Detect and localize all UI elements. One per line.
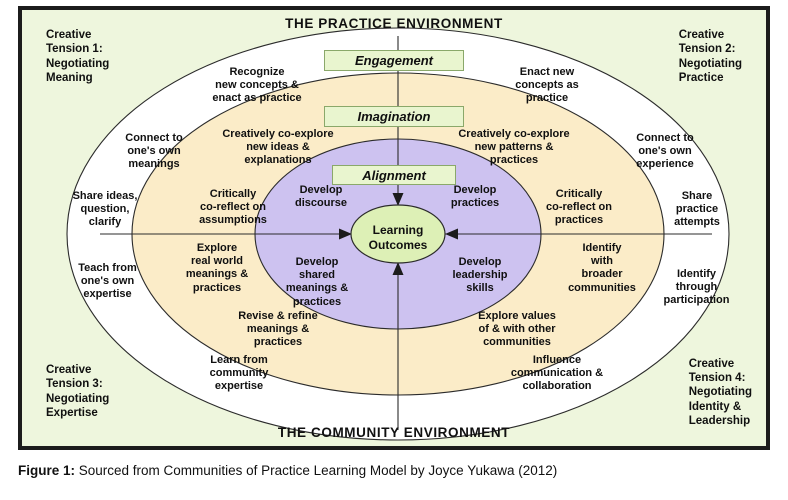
figure-caption-text: Sourced from Communities of Practice Lea… <box>75 463 557 478</box>
figure-caption-label: Figure 1: <box>18 463 75 478</box>
creative-tension-4: Creative Tension 4: Negotiating Identity… <box>689 357 752 428</box>
middle-cell-identify-with-broader-communities: Identify with broader communities <box>542 242 662 295</box>
middle-cell-explore-values-communities: Explore values of & with other communiti… <box>442 310 592 350</box>
outer-cell-enact-new-concepts: Enact new concepts as practice <box>482 66 612 106</box>
figure-caption: Figure 1: Sourced from Communities of Pr… <box>18 462 758 480</box>
environment-label-top: THE PRACTICE ENVIRONMENT <box>22 16 766 31</box>
core-learning-outcomes-label: Learning Outcomes <box>353 223 443 252</box>
inner-cell-develop-discourse: Develop discourse <box>280 184 362 210</box>
creative-tension-1: Creative Tension 1: Negotiating Meaning <box>46 28 109 85</box>
middle-cell-co-reflect-on-assumptions: Critically co-reflect on assumptions <box>168 188 298 228</box>
middle-cell-revise-refine-meanings: Revise & refine meanings & practices <box>204 310 352 350</box>
figure-page: THE PRACTICE ENVIRONMENT THE COMMUNITY E… <box>0 0 788 500</box>
mode-box-imagination: Imagination <box>324 106 464 127</box>
outer-cell-influence-communication-collaboration: Influence communication & collaboration <box>477 354 637 394</box>
inner-cell-develop-practices: Develop practices <box>434 184 516 210</box>
outer-cell-recognize-new-concepts: Recognize new concepts & enact as practi… <box>182 66 332 106</box>
outer-cell-share-ideas-question-clarify: Share ideas, question, clarify <box>50 190 160 230</box>
environment-label-bottom: THE COMMUNITY ENVIRONMENT <box>22 425 766 440</box>
middle-cell-co-explore-new-patterns: Creatively co-explore new patterns & pra… <box>426 128 602 168</box>
inner-cell-develop-leadership-skills: Develop leadership skills <box>434 256 526 296</box>
middle-cell-explore-real-world: Explore real world meanings & practices <box>162 242 272 295</box>
mode-box-alignment: Alignment <box>332 165 456 185</box>
outer-cell-share-practice-attempts: Share practice attempts <box>642 190 752 230</box>
outer-cell-connect-own-experience: Connect to one's own experience <box>600 132 730 172</box>
inner-cell-develop-shared-meanings: Develop shared meanings & practices <box>272 256 362 309</box>
middle-cell-co-explore-new-ideas: Creatively co-explore new ideas & explan… <box>194 128 362 168</box>
creative-tension-3: Creative Tension 3: Negotiating Expertis… <box>46 363 109 420</box>
diagram-frame: THE PRACTICE ENVIRONMENT THE COMMUNITY E… <box>18 6 770 450</box>
creative-tension-2: Creative Tension 2: Negotiating Practice <box>679 28 742 85</box>
outer-cell-learn-from-community-expertise: Learn from community expertise <box>174 354 304 394</box>
outer-cell-teach-from-own-expertise: Teach from one's own expertise <box>50 262 165 302</box>
middle-cell-co-reflect-on-practices: Critically co-reflect on practices <box>514 188 644 228</box>
mode-box-engagement: Engagement <box>324 50 464 71</box>
